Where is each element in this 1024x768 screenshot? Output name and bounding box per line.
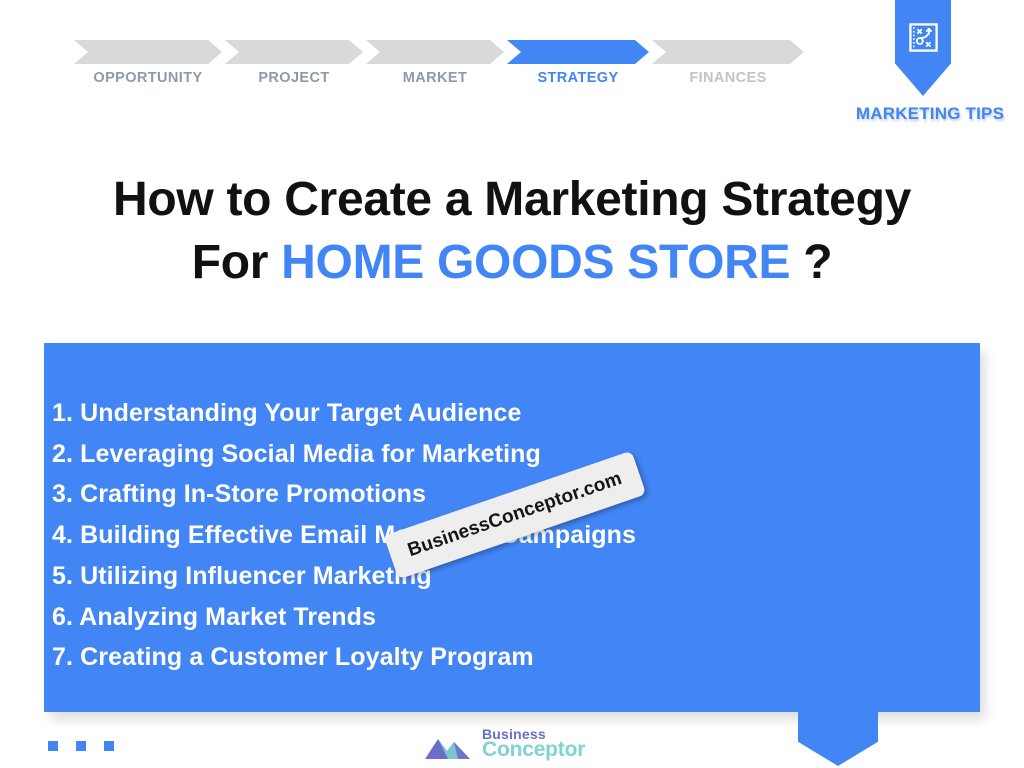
breadcrumb-chevron-opportunity[interactable] — [74, 40, 222, 64]
footer-logo: Business Conceptor — [424, 727, 594, 765]
title-prefix: For — [192, 236, 281, 289]
breadcrumb-chevron-market[interactable] — [366, 40, 504, 64]
list-item: 1. Understanding Your Target Audience — [52, 393, 912, 434]
decoration-dot — [48, 741, 58, 751]
title-suffix: ? — [790, 236, 832, 289]
breadcrumb-label-market[interactable]: MARKET — [366, 70, 504, 86]
strategy-board-icon — [908, 22, 939, 53]
decoration-dot — [76, 741, 86, 751]
decoration-dot — [104, 741, 114, 751]
title-line-1: How to Create a Marketing Strategy — [62, 168, 962, 231]
badge-caption: MARKETING TIPS — [845, 104, 1015, 124]
breadcrumb-label-strategy[interactable]: STRATEGY — [507, 70, 649, 86]
title-highlight: HOME GOODS STORE — [281, 236, 790, 289]
list-item: 2. Leveraging Social Media for Marketing — [52, 434, 912, 475]
breadcrumb-label-opportunity[interactable]: OPPORTUNITY — [74, 70, 222, 86]
breadcrumb-chevrons — [74, 40, 804, 64]
mountain-peaks-icon — [424, 735, 484, 761]
page-title: How to Create a Marketing Strategy For H… — [62, 168, 962, 295]
slide-canvas: OPPORTUNITY PROJECT MARKET STRATEGY FINA… — [0, 0, 1024, 768]
breadcrumb-chevron-strategy[interactable] — [507, 40, 649, 64]
list-item: 5. Utilizing Influencer Marketing — [52, 556, 912, 597]
title-line-2: For HOME GOODS STORE ? — [62, 231, 962, 294]
footer-logo-conceptor: Conceptor — [482, 740, 585, 760]
marketing-tips-badge — [895, 0, 951, 96]
breadcrumb-label-project[interactable]: PROJECT — [225, 70, 363, 86]
process-breadcrumb: OPPORTUNITY PROJECT MARKET STRATEGY FINA… — [0, 0, 1024, 100]
list-item: 7. Creating a Customer Loyalty Program — [52, 637, 912, 678]
breadcrumb-chevron-finances[interactable] — [652, 40, 804, 64]
breadcrumb-label-finances[interactable]: FINANCES — [652, 70, 804, 86]
decoration-dots — [48, 741, 114, 751]
breadcrumb-chevron-project[interactable] — [225, 40, 363, 64]
panel-bottom-pennant — [798, 712, 878, 766]
footer-logo-text: Business Conceptor — [482, 727, 585, 760]
breadcrumb-labels: OPPORTUNITY PROJECT MARKET STRATEGY FINA… — [74, 70, 804, 86]
list-item: 6. Analyzing Market Trends — [52, 597, 912, 638]
